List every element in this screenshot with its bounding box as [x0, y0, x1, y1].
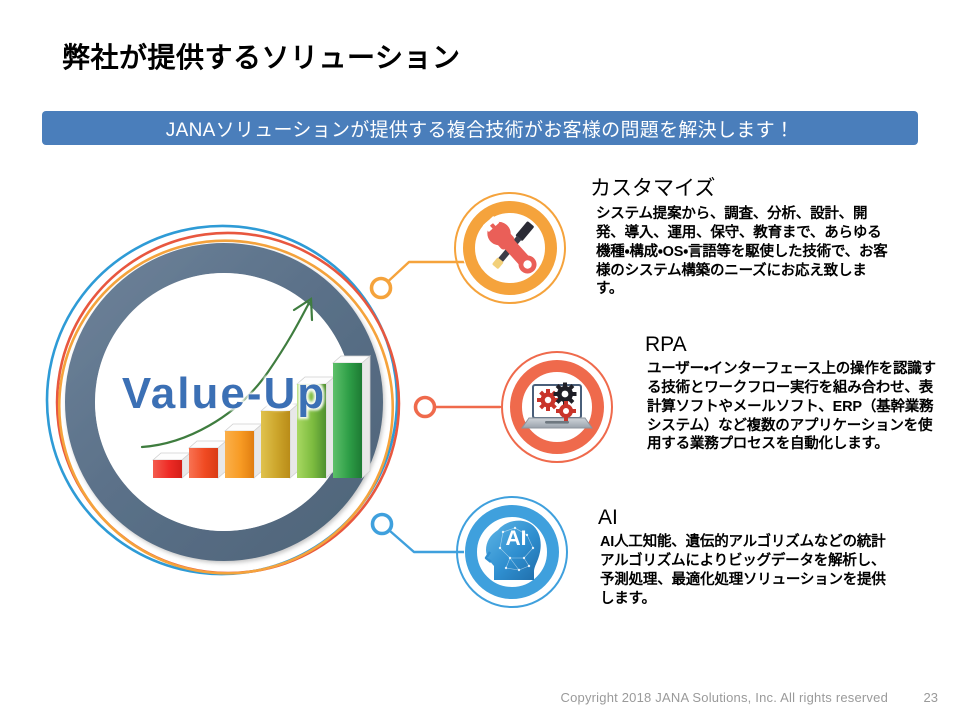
hub-label: Value-Up [122, 369, 326, 418]
connector-line-customize [381, 262, 470, 288]
chart-bar [225, 424, 262, 478]
page-title: 弊社が提供するソリューション [62, 36, 460, 76]
feature-body-customize: システム提案から、調査、分析、設計、開発、導入、運用、保守、教育まで、あらゆる機… [590, 205, 890, 299]
slide-footer: Copyright 2018 JANA Solutions, Inc. All … [0, 690, 960, 714]
copyright-text: Copyright 2018 JANA Solutions, Inc. All … [561, 690, 889, 705]
connector-node-customize [372, 279, 391, 298]
headline-banner: JANAソリューションが提供する複合技術がお客様の問題を解決します！ [42, 111, 918, 145]
feature-block-rpa: RPA ユーザー・インターフェース上の操作を認識する技術とワークフロー実行を組み… [645, 333, 945, 454]
chart-bar [153, 453, 190, 478]
feature-heading-customize: カスタマイズ [590, 172, 890, 202]
headline-banner-text: JANAソリューションが提供する複合技術がお客様の問題を解決します！ [166, 115, 794, 142]
feature-heading-rpa: RPA [645, 333, 945, 357]
connector-node-ai [373, 515, 392, 534]
feature-block-ai: AI AI人工知能、遺伝的アルゴリズムなどの統計アルゴリズムによりビッグデータを… [598, 506, 898, 608]
connector-node-rpa [416, 398, 435, 417]
laptop-gears-icon [522, 383, 592, 429]
feature-heading-ai: AI [598, 506, 898, 530]
feature-icon-rpa[interactable] [502, 352, 612, 462]
chart-bar [333, 356, 370, 478]
feature-body-ai: AI人工知能、遺伝的アルゴリズムなどの統計アルゴリズムによりビッグデータを解析し… [598, 533, 898, 608]
page-number: 23 [924, 690, 938, 705]
feature-icon-ai[interactable]: AI [457, 497, 567, 607]
feature-body-rpa: ユーザー・インターフェース上の操作を認識する技術とワークフロー実行を組み合わせ、… [645, 360, 945, 454]
feature-block-customize: カスタマイズ システム提案から、調査、分析、設計、開発、導入、運用、保守、教育ま… [590, 172, 890, 299]
ai-icon-label: AI [506, 527, 527, 550]
chart-bar [189, 441, 226, 478]
feature-icon-customize[interactable] [455, 193, 565, 303]
